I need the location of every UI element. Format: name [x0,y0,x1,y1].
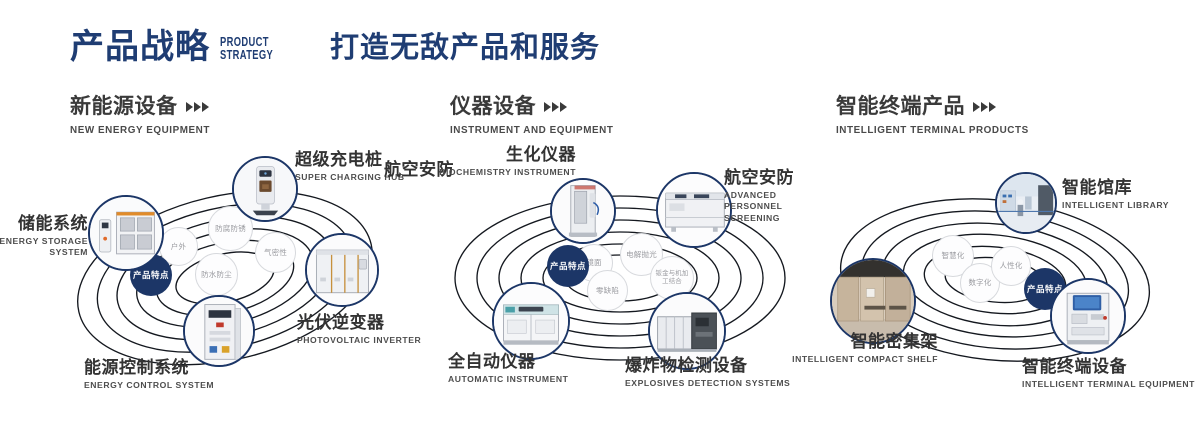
feature-bubble: 零缺陷 [587,270,628,311]
node-photovoltaic-inverter[interactable] [305,233,379,307]
library-interior-image [997,174,1055,232]
brand-en-line2: STRATEGY [220,48,273,61]
node-energy-control-system[interactable] [183,295,255,367]
label-cn: 能源控制系统 [84,358,214,378]
label-en: EXPLOSIVES DETECTION SYSTEMS [625,378,790,390]
label-cn: 全自动仪器 [448,352,568,372]
automatic-instrument-image [494,284,568,358]
section-title-cn-text: 仪器设备 [450,95,536,118]
node-advanced-personnel-screening[interactable] [656,172,732,248]
label-en: AUTOMATIC INSTRUMENT [448,374,568,386]
section-title-cn: 仪器设备 [450,95,624,118]
label-energy-control-system: 能源控制系统 ENERGY CONTROL SYSTEM [84,358,214,391]
headline: 打造无敌产品和服务 [330,34,600,63]
compact-shelf-image [832,260,914,342]
label-en: ENERGY CONTROL SYSTEM [84,380,214,392]
node-intelligent-terminal-equipment[interactable] [1050,278,1126,354]
label-cn: 光伏逆变器 [297,313,421,333]
section-header-instrument: 仪器设备 INSTRUMENT AND EQUIPMENT [450,95,624,136]
label-biochemistry-instrument: 生化仪器 BIOCHEMISTRY INSTRUMENT [410,145,576,178]
section-title-cn: 新能源设备 [70,95,219,118]
screening-machine-image [658,174,730,246]
section-title-cn: 智能终端产品 [836,95,1041,118]
label-cn: 储能系统 [0,214,88,234]
brand-title-cn: 产品战略 [70,30,210,64]
inverter-cabinet-image [307,235,377,305]
biochemistry-instrument-image [552,180,614,242]
label-energy-storage-system: 储能系统 ENERGY STORAGE SYSTEM [0,214,88,259]
section-title-cn-text: 智能终端产品 [836,95,965,118]
label-cn: 生化仪器 [410,145,576,165]
label-en: ENERGY STORAGE SYSTEM [0,236,88,259]
control-cabinet-image [185,297,253,365]
storage-cabinet-image [90,197,162,269]
label-en: INTELLIGENT TERMINAL EQUIPMENT [1022,379,1195,391]
section-header-new-energy: 新能源设备 NEW ENERGY EQUIPMENT [70,95,219,136]
node-biochemistry-instrument[interactable] [550,178,616,244]
label-photovoltaic-inverter: 光伏逆变器 PHOTOVOLTAIC INVERTER [297,313,421,346]
chevron-right-icon [973,102,996,112]
section-title-en: NEW ENERGY EQUIPMENT [70,124,210,136]
brand-lockup: 产品战略 PRODUCT STRATEGY [70,30,294,64]
product-strategy-infographic: 产品战略 PRODUCT STRATEGY 打造无敌产品和服务 新能源设备 NE… [0,0,1200,422]
chevron-right-icon [544,102,567,112]
chevron-right-icon [186,102,209,112]
label-intelligent-terminal-equipment: 智能终端设备 INTELLIGENT TERMINAL EQUIPMENT [1022,357,1195,390]
label-explosives-detection-systems: 爆炸物检测设备 EXPLOSIVES DETECTION SYSTEMS [625,356,790,389]
label-intelligent-compact-shelf: 智能密集架 INTELLIGENT COMPACT SHELF [788,332,938,365]
node-automatic-instrument[interactable] [492,282,570,360]
feature-bubble: 气密性 [255,232,296,273]
node-intelligent-library[interactable] [995,172,1057,234]
section-title-en: INTELLIGENT TERMINAL PRODUCTS [836,124,1029,136]
label-cn: 智能馆库 [1062,178,1169,198]
label-intelligent-library: 智能馆库 INTELLIGENT LIBRARY [1062,178,1169,211]
label-en: PHOTOVOLTAIC INVERTER [297,335,421,347]
label-cn: 智能终端设备 [1022,357,1195,377]
section-title-cn-text: 新能源设备 [70,95,178,118]
node-super-charging-hub[interactable] [232,156,298,222]
self-service-kiosk-image [1052,280,1124,352]
core-badge-label: 产品特点 [550,261,586,272]
header: 产品战略 PRODUCT STRATEGY 打造无敌产品和服务 [0,0,1200,90]
brand-en-line1: PRODUCT [220,35,273,48]
brand-title-en: PRODUCT STRATEGY [220,35,273,65]
feature-bubble: 防水防尘 [195,253,238,296]
label-en: INTELLIGENT COMPACT SHELF [788,354,938,366]
core-badge-label: 产品特点 [133,270,169,281]
charging-pile-image [234,158,296,220]
label-cn: 智能密集架 [788,332,938,352]
cluster-new-energy: 户外 防腐防锈 防水防尘 气密性 产品特点 [40,150,420,400]
cluster-instrument: 镜面 电解抛光 零缺陷 钣金与机加工结合 产品特点 [420,150,820,400]
label-automatic-instrument: 全自动仪器 AUTOMATIC INSTRUMENT [448,352,568,385]
core-badge: 产品特点 [547,245,589,287]
label-en: INTELLIGENT LIBRARY [1062,200,1169,212]
label-cn: 爆炸物检测设备 [625,356,790,376]
node-energy-storage-system[interactable] [88,195,164,271]
label-en: BIOCHEMISTRY INSTRUMENT [410,167,576,179]
cluster-intelligent-terminal: 智慧化 数字化 人性化 产品特点 [810,150,1190,400]
section-header-intelligent-terminal: 智能终端产品 INTELLIGENT TERMINAL PRODUCTS [836,95,1041,136]
section-title-en: INSTRUMENT AND EQUIPMENT [450,124,613,136]
